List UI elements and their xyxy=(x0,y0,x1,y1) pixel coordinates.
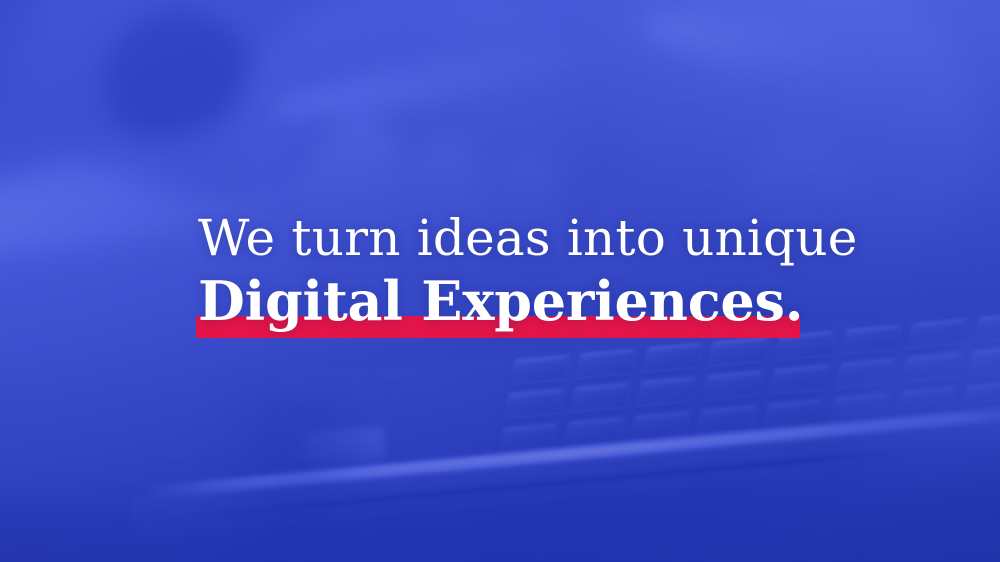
headline-line-2-wrapper: Digital Experiences. xyxy=(198,272,803,330)
headline-line-1: We turn ideas into unique xyxy=(198,208,838,268)
hero-headline: We turn ideas into unique Digital Experi… xyxy=(198,208,838,330)
headline-line-2: Digital Experiences. xyxy=(198,272,803,330)
hero-banner: We turn ideas into unique Digital Experi… xyxy=(0,0,1000,562)
